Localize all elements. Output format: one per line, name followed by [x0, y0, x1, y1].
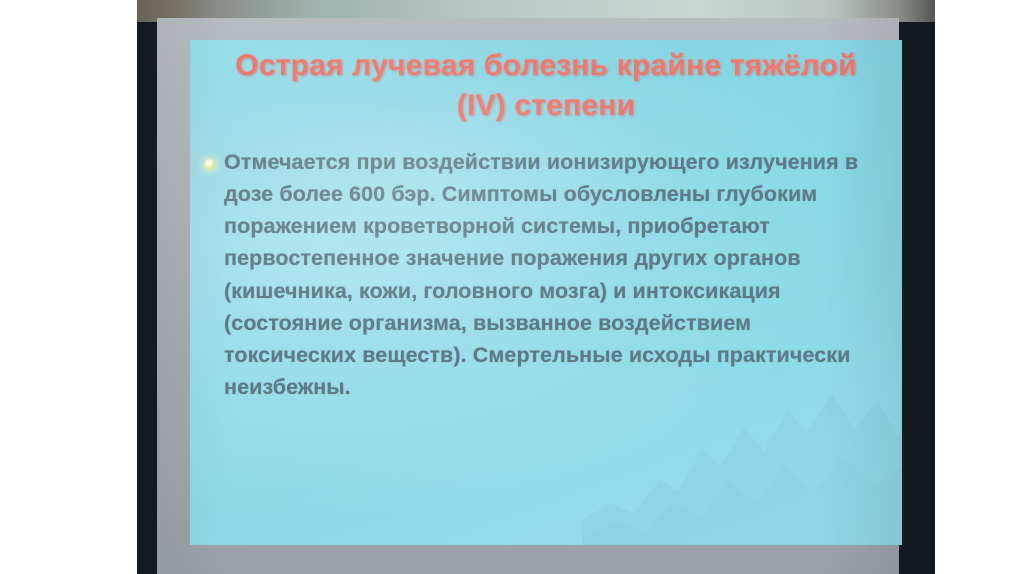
presentation-slide: Острая лучевая болезнь крайне тяжёлой (I…	[190, 40, 902, 545]
slide-title: Острая лучевая болезнь крайне тяжёлой (I…	[220, 46, 872, 126]
photo-stage: Острая лучевая болезнь крайне тяжёлой (I…	[0, 0, 1024, 574]
slide-bullet-text: Отмечается при воздействии ионизирующего…	[224, 146, 884, 403]
left-dark-bezel	[137, 0, 159, 556]
projection-screen-frame: Острая лучевая болезнь крайне тяжёлой (I…	[157, 18, 899, 574]
projector-photograph: Острая лучевая болезнь крайне тяжёлой (I…	[137, 0, 935, 574]
bullet-dot-icon	[204, 159, 215, 170]
slide-bullet-item: Отмечается при воздействии ионизирующего…	[204, 146, 884, 403]
